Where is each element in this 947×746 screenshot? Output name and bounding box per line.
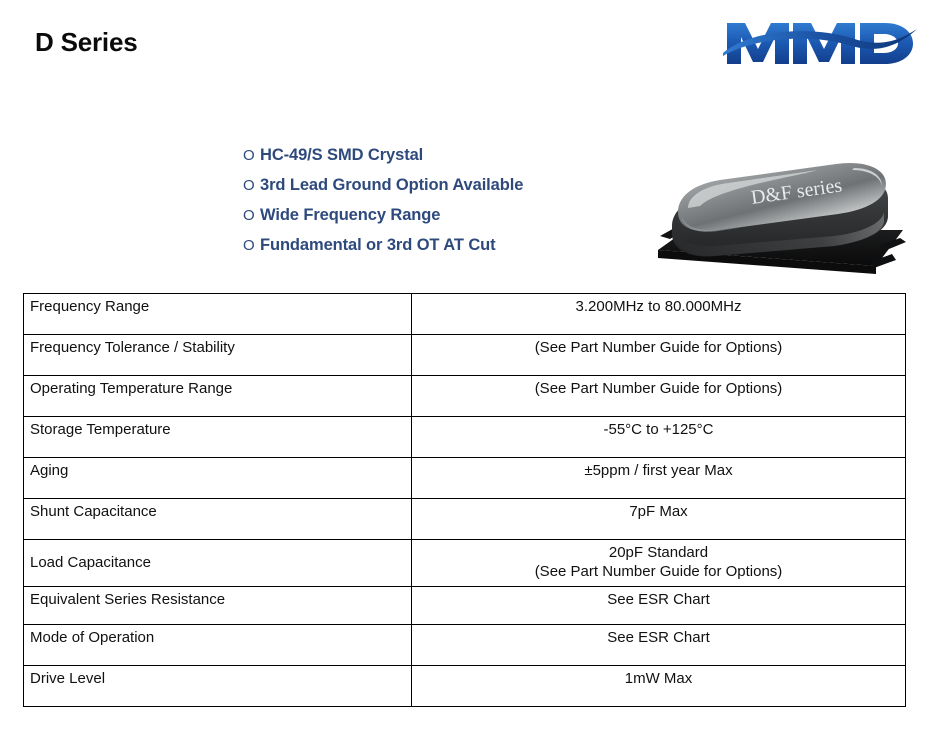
page-title: D Series bbox=[35, 27, 137, 58]
circle-bullet-icon: O bbox=[243, 148, 260, 163]
spec-label: Drive Level bbox=[24, 666, 412, 707]
feature-label: Wide Frequency Range bbox=[260, 206, 440, 225]
spec-value-line: (See Part Number Guide for Options) bbox=[416, 380, 901, 399]
mmd-logo bbox=[721, 12, 921, 70]
spec-value: 1mW Max bbox=[412, 666, 906, 707]
spec-label: Frequency Range bbox=[24, 294, 412, 335]
spec-value: ±5ppm / first year Max bbox=[412, 458, 906, 499]
spec-value: 7pF Max bbox=[412, 499, 906, 540]
spec-value: See ESR Chart bbox=[412, 587, 906, 625]
spec-value-line: -55°C to +125°C bbox=[416, 421, 901, 440]
spec-value: 20pF Standard (See Part Number Guide for… bbox=[412, 540, 906, 587]
spec-label: Aging bbox=[24, 458, 412, 499]
spec-label: Frequency Tolerance / Stability bbox=[24, 335, 412, 376]
circle-bullet-icon: O bbox=[243, 238, 260, 253]
spec-label: Mode of Operation bbox=[24, 625, 412, 666]
spec-value: 3.200MHz to 80.000MHz bbox=[412, 294, 906, 335]
spec-value: See ESR Chart bbox=[412, 625, 906, 666]
circle-bullet-icon: O bbox=[243, 208, 260, 223]
table-row: Equivalent Series Resistance See ESR Cha… bbox=[24, 587, 906, 625]
table-row: Frequency Tolerance / Stability (See Par… bbox=[24, 335, 906, 376]
spec-value-line: (See Part Number Guide for Options) bbox=[416, 339, 901, 358]
table-row: Load Capacitance 20pF Standard (See Part… bbox=[24, 540, 906, 587]
feature-item: O Wide Frequency Range bbox=[243, 206, 643, 236]
feature-item: O 3rd Lead Ground Option Available bbox=[243, 176, 643, 206]
table-row: Mode of Operation See ESR Chart bbox=[24, 625, 906, 666]
spec-value-line: 7pF Max bbox=[416, 503, 901, 522]
spec-value-line: 3.200MHz to 80.000MHz bbox=[416, 298, 901, 317]
table-row: Drive Level 1mW Max bbox=[24, 666, 906, 707]
specifications-table: Frequency Range 3.200MHz to 80.000MHz Fr… bbox=[23, 293, 906, 707]
spec-label: Load Capacitance bbox=[24, 540, 412, 587]
spec-value-line: (See Part Number Guide for Options) bbox=[416, 563, 901, 582]
spec-label: Shunt Capacitance bbox=[24, 499, 412, 540]
spec-label: Storage Temperature bbox=[24, 417, 412, 458]
spec-value-line: 20pF Standard bbox=[416, 544, 901, 563]
feature-label: HC-49/S SMD Crystal bbox=[260, 146, 423, 165]
spec-value: (See Part Number Guide for Options) bbox=[412, 335, 906, 376]
feature-label: 3rd Lead Ground Option Available bbox=[260, 176, 523, 195]
smd-crystal-photo: D&F series bbox=[648, 138, 918, 286]
spec-value-line: ±5ppm / first year Max bbox=[416, 462, 901, 481]
feature-label: Fundamental or 3rd OT AT Cut bbox=[260, 236, 496, 255]
spec-value: (See Part Number Guide for Options) bbox=[412, 376, 906, 417]
table-row: Aging ±5ppm / first year Max bbox=[24, 458, 906, 499]
spec-label: Equivalent Series Resistance bbox=[24, 587, 412, 625]
datasheet-page: D Series bbox=[0, 0, 947, 746]
table-row: Storage Temperature -55°C to +125°C bbox=[24, 417, 906, 458]
spec-label: Operating Temperature Range bbox=[24, 376, 412, 417]
feature-item: O Fundamental or 3rd OT AT Cut bbox=[243, 236, 643, 266]
spec-value-line: 1mW Max bbox=[416, 670, 901, 689]
spec-value: -55°C to +125°C bbox=[412, 417, 906, 458]
table-row: Operating Temperature Range (See Part Nu… bbox=[24, 376, 906, 417]
spec-value-line: See ESR Chart bbox=[416, 591, 901, 610]
spec-value-line: See ESR Chart bbox=[416, 629, 901, 648]
feature-list: O HC-49/S SMD Crystal O 3rd Lead Ground … bbox=[243, 146, 643, 266]
feature-item: O HC-49/S SMD Crystal bbox=[243, 146, 643, 176]
table-row: Shunt Capacitance 7pF Max bbox=[24, 499, 906, 540]
table-row: Frequency Range 3.200MHz to 80.000MHz bbox=[24, 294, 906, 335]
circle-bullet-icon: O bbox=[243, 178, 260, 193]
